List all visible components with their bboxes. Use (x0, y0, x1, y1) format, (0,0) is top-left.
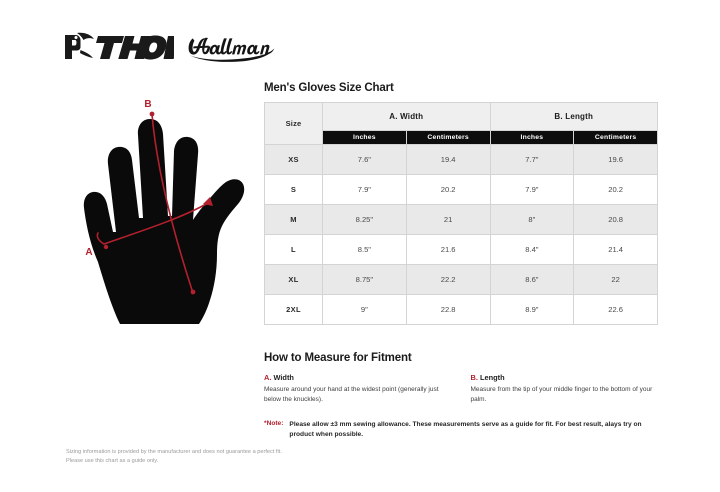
how-to-measure-length-heading: B. Length (471, 373, 661, 382)
cell-length-centimeters: 20.8 (574, 205, 658, 235)
measure-b-bottom-endpoint (191, 290, 196, 295)
disclaimer-line-1: Sizing information is provided by the ma… (66, 448, 396, 457)
page-title: Men's Gloves Size Chart (264, 82, 658, 94)
how-to-measure-width-name: Width (273, 373, 293, 382)
table-row: XS 7.6" 19.4 7.7" 19.6 (265, 145, 658, 175)
size-chart-section: Men's Gloves Size Chart Size A. Width B.… (264, 82, 658, 325)
how-to-measure-width-heading: A. Width (264, 373, 454, 382)
hallman-logo (184, 32, 276, 62)
measure-a-endpoint (104, 245, 108, 249)
cell-width-inches: 8.25" (323, 205, 407, 235)
how-to-measure-section: How to Measure for Fitment A. Width Meas… (264, 352, 660, 405)
how-to-measure-title: How to Measure for Fitment (264, 352, 660, 364)
cell-length-centimeters: 21.4 (574, 235, 658, 265)
note-label: *Note: (264, 420, 283, 440)
cell-width-inches: 9" (323, 295, 407, 325)
how-to-measure-width-description: Measure around your hand at the widest p… (264, 385, 454, 405)
column-header-width-inches: Inches (323, 131, 407, 145)
cell-size: XL (265, 265, 323, 295)
how-to-measure-length-letter: B. (471, 373, 478, 382)
cell-width-centimeters: 22.8 (406, 295, 490, 325)
cell-size: L (265, 235, 323, 265)
size-chart-page: B A Men's Gloves Size Chart Size A. Widt… (0, 0, 720, 492)
cell-width-centimeters: 20.2 (406, 175, 490, 205)
table-row: L 8.5" 21.6 8.4" 21.4 (265, 235, 658, 265)
how-to-measure-item-length: B. Length Measure from the tip of your m… (471, 373, 661, 405)
hand-silhouette (84, 119, 244, 324)
cell-length-inches: 7.9" (490, 175, 574, 205)
table-body: XS 7.6" 19.4 7.7" 19.6 S 7.9" 20.2 7.9" … (265, 145, 658, 325)
cell-length-centimeters: 20.2 (574, 175, 658, 205)
note-section: *Note: Please allow ±3 mm sewing allowan… (264, 420, 660, 440)
column-group-header-length: B. Length (490, 103, 658, 131)
disclaimer-line-2: Please use this chart as a guide only. (66, 457, 396, 466)
note-text: Please allow ±3 mm sewing allowance. The… (289, 420, 660, 440)
how-to-measure-columns: A. Width Measure around your hand at the… (264, 373, 660, 405)
hand-illustration-svg: B A (60, 92, 270, 332)
table-row: XL 8.75" 22.2 8.6" 22 (265, 265, 658, 295)
cell-width-centimeters: 22.2 (406, 265, 490, 295)
cell-length-inches: 8.9" (490, 295, 574, 325)
brand-logo-bar (62, 30, 276, 64)
cell-size: M (265, 205, 323, 235)
table-row: S 7.9" 20.2 7.9" 20.2 (265, 175, 658, 205)
cell-size: S (265, 175, 323, 205)
table-row: M 8.25" 21 8" 20.8 (265, 205, 658, 235)
measure-a-label: A (85, 247, 92, 258)
thor-logo (62, 30, 174, 64)
how-to-measure-width-letter: A. (264, 373, 271, 382)
measure-b-top-endpoint (150, 112, 155, 117)
cell-width-centimeters: 19.4 (406, 145, 490, 175)
how-to-measure-length-description: Measure from the tip of your middle fing… (471, 385, 661, 405)
hand-measurement-diagram: B A (60, 92, 270, 332)
cell-width-centimeters: 21 (406, 205, 490, 235)
cell-width-inches: 7.6" (323, 145, 407, 175)
cell-width-inches: 7.9" (323, 175, 407, 205)
cell-width-inches: 8.5" (323, 235, 407, 265)
table-header-unit-row: Inches Centimeters Inches Centimeters (265, 131, 658, 145)
cell-size: 2XL (265, 295, 323, 325)
how-to-measure-length-name: Length (480, 373, 505, 382)
column-header-length-inches: Inches (490, 131, 574, 145)
column-header-size: Size (265, 103, 323, 145)
cell-size: XS (265, 145, 323, 175)
cell-length-inches: 8.6" (490, 265, 574, 295)
cell-length-inches: 8" (490, 205, 574, 235)
how-to-measure-item-width: A. Width Measure around your hand at the… (264, 373, 454, 405)
table-head: Size A. Width B. Length Inches Centimete… (265, 103, 658, 145)
disclaimer-text: Sizing information is provided by the ma… (66, 448, 396, 466)
column-group-header-width: A. Width (323, 103, 491, 131)
cell-width-inches: 8.75" (323, 265, 407, 295)
column-header-width-centimeters: Centimeters (406, 131, 490, 145)
cell-length-centimeters: 22.6 (574, 295, 658, 325)
cell-width-centimeters: 21.6 (406, 235, 490, 265)
cell-length-centimeters: 22 (574, 265, 658, 295)
table-row: 2XL 9" 22.8 8.9" 22.6 (265, 295, 658, 325)
measure-b-label: B (144, 99, 151, 110)
cell-length-inches: 8.4" (490, 235, 574, 265)
cell-length-inches: 7.7" (490, 145, 574, 175)
column-header-length-centimeters: Centimeters (574, 131, 658, 145)
size-chart-table: Size A. Width B. Length Inches Centimete… (264, 102, 658, 325)
cell-length-centimeters: 19.6 (574, 145, 658, 175)
table-header-group-row: Size A. Width B. Length (265, 103, 658, 131)
